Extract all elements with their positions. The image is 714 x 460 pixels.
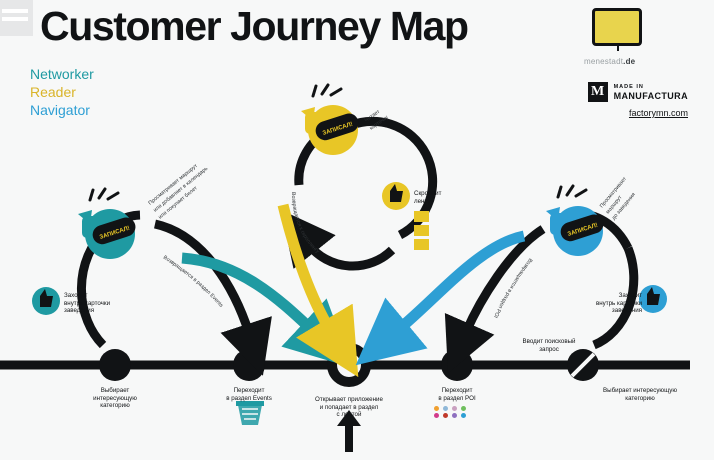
journey-map-canvas: Customer Journey Map Networker Reader Na… [0,0,714,460]
networker-top-label-2: или добавляет в календарь [152,166,209,214]
feed-bars-icon [414,211,429,250]
search-query-label: Вводит поисковый запрос [506,338,592,353]
node-search-category-label: Выбирает интересующую категорию [586,387,694,402]
navigator-loop-path [466,214,634,345]
node-open-app-label: Открывает приложение и попадает в раздел… [296,396,402,419]
reader-scroll-label: Скроллит ленту [414,190,462,205]
navigator-sweep-arrow [398,236,524,330]
node-open-app[interactable] [327,343,371,387]
networker-thumb-icon [32,287,60,315]
node-search-category[interactable] [567,349,599,381]
reader-thumb-icon [382,182,410,210]
navigator-thumb-icon [639,285,667,313]
navigator-thumb-label: Заходит внутрь карточки заведения [568,292,642,315]
navigator-badge-group: ЗАПИСАЛ! [546,186,606,256]
node-events-label: Переходит в раздел Events [206,387,292,402]
node-category-label: Выбирает интересующую категорию [72,387,158,410]
networker-thumb-label: Заходит внутрь карточки заведения [64,292,134,315]
node-events[interactable] [233,349,265,381]
poi-dots-icon [434,406,468,418]
node-category[interactable] [99,349,131,381]
node-poi-label: Переходит в раздел POI [414,387,500,402]
navigator-bottom-label: Возвращается в раздел POI [492,257,533,319]
events-badge-icon [236,401,264,425]
node-poi[interactable] [441,349,473,381]
